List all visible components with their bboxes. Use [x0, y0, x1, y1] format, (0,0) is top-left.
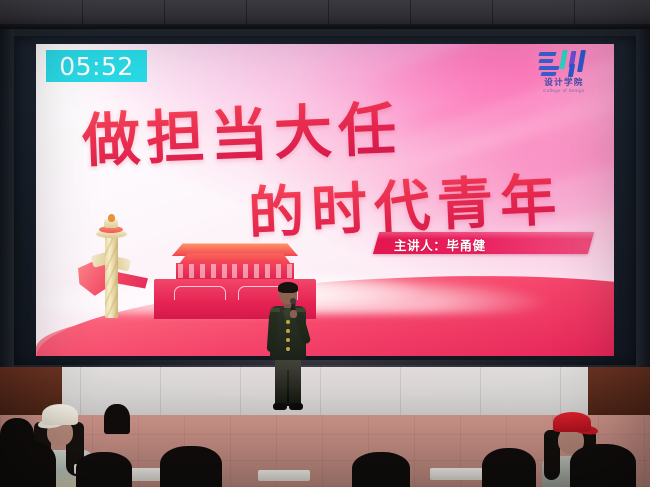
right-wall-edge [636, 29, 650, 367]
presenter-shoe [289, 403, 303, 410]
audience-head-silhouette [570, 444, 636, 487]
logo-chinese-name: 设计学院 [532, 79, 596, 88]
presentation-slide: 05:52 设计学院 College of Design 做担当大任 的时代青年 [36, 44, 614, 356]
audience-head-silhouette [76, 452, 132, 487]
countdown-timer: 05:52 [46, 50, 147, 82]
speaker-banner-label: 主讲人：毕甬健 [394, 235, 486, 254]
audience-head-silhouette [104, 404, 130, 434]
projection-screen: 05:52 设计学院 College of Design 做担当大任 的时代青年 [36, 44, 614, 356]
countdown-timer-value: 05:52 [59, 54, 134, 79]
audience-head-silhouette [482, 448, 536, 487]
logo-mark-icon [539, 50, 589, 77]
lecture-hall-scene: 05:52 设计学院 College of Design 做担当大任 的时代青年 [0, 0, 650, 487]
huabiao-ornamental-column [94, 214, 128, 322]
audience-head-silhouette [352, 452, 410, 487]
presenter-in-military-uniform [266, 284, 310, 415]
audience-head-silhouette [160, 446, 222, 487]
microphone-icon [290, 298, 296, 304]
desk [258, 470, 310, 481]
audience-head-silhouette [0, 440, 56, 487]
ceiling-panels [0, 0, 650, 26]
left-wall-edge [0, 29, 14, 367]
logo-english-name: College of Design [532, 89, 596, 93]
headline-line-1: 做担当大任 [81, 82, 404, 178]
college-of-design-logo: 设计学院 College of Design [532, 50, 596, 96]
presenter-shoe [273, 403, 287, 410]
desk [430, 468, 486, 480]
